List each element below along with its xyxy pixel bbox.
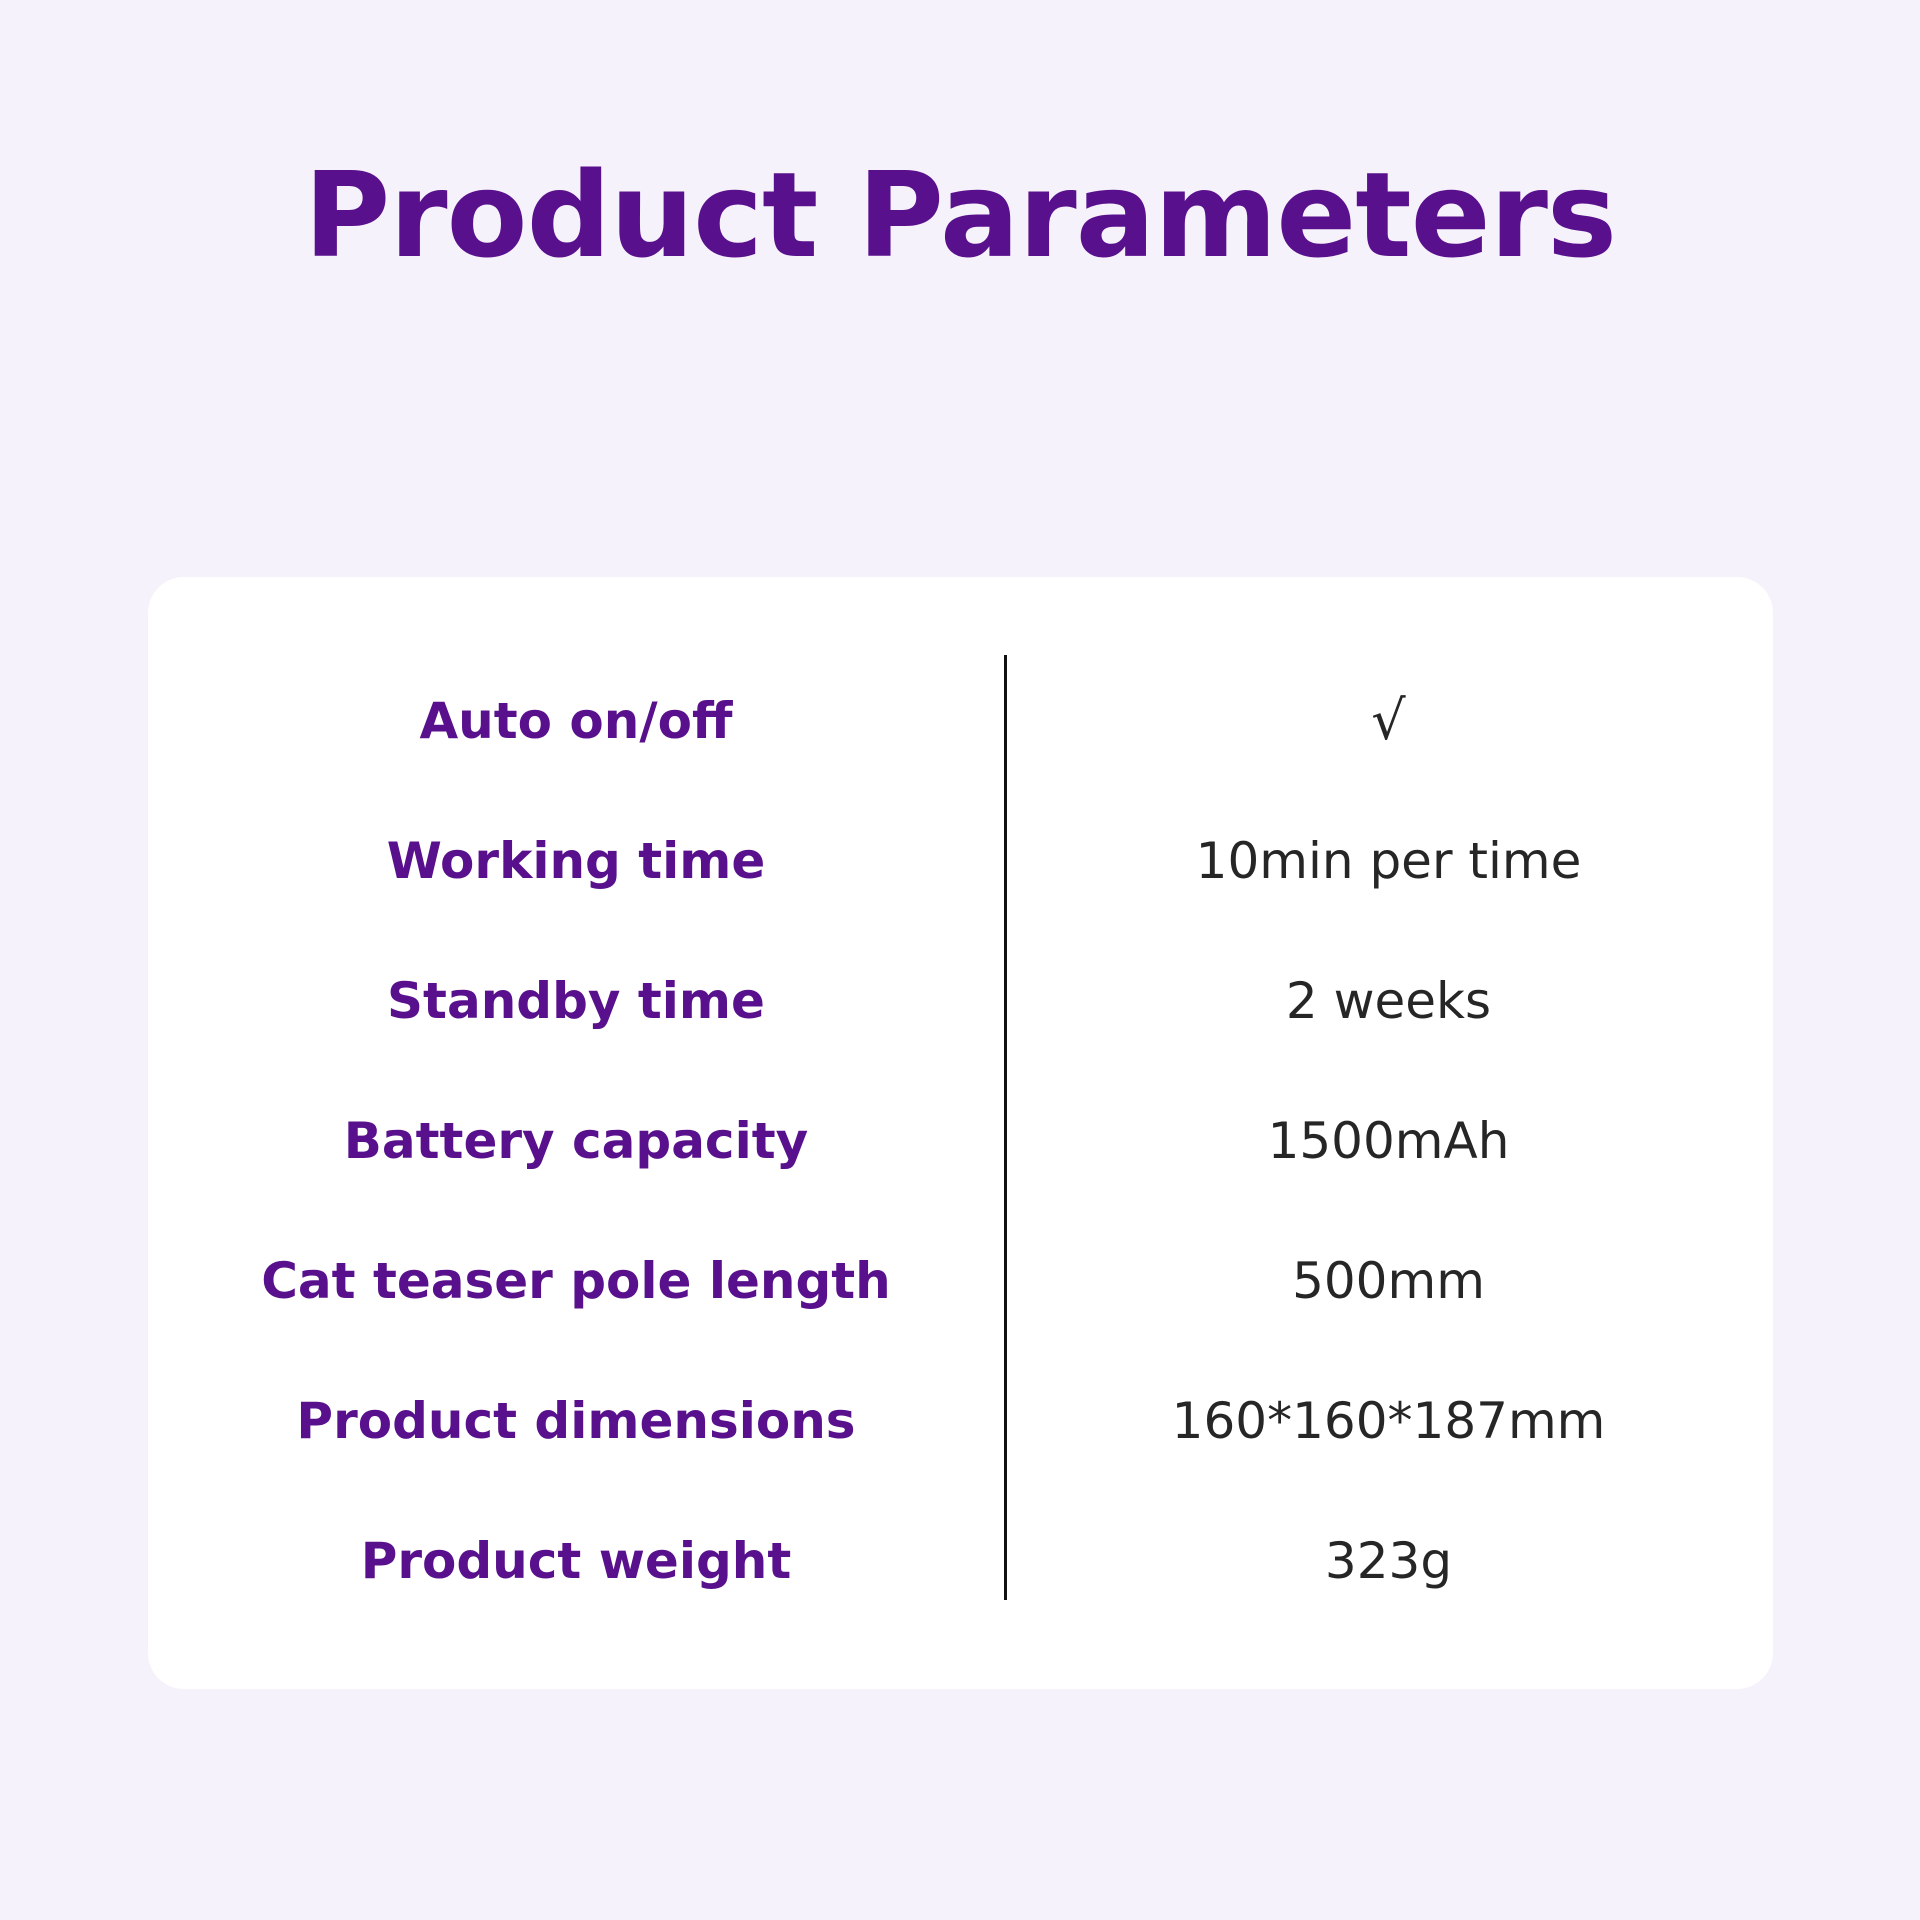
spec-value: 1500mAh (1004, 1114, 1773, 1169)
spec-label: Battery capacity (148, 1114, 1004, 1169)
spec-label: Cat teaser pole length (148, 1254, 1004, 1309)
spec-label: Standby time (148, 974, 1004, 1029)
table-row: Auto on/off √ (148, 651, 1773, 791)
table-row: Product weight 323g (148, 1491, 1773, 1631)
spec-value: 10min per time (1004, 834, 1773, 889)
spec-label: Auto on/off (148, 694, 1004, 749)
spec-table: Auto on/off √ Working time 10min per tim… (148, 577, 1773, 1689)
table-row: Cat teaser pole length 500mm (148, 1211, 1773, 1351)
spec-value: 500mm (1004, 1254, 1773, 1309)
table-row: Standby time 2 weeks (148, 931, 1773, 1071)
spec-label: Product dimensions (148, 1394, 1004, 1449)
spec-value-check-icon: √ (1004, 691, 1773, 750)
spec-label: Working time (148, 834, 1004, 889)
spec-value: 160*160*187mm (1004, 1394, 1773, 1449)
page-title: Product Parameters (0, 154, 1920, 278)
spec-value: 323g (1004, 1534, 1773, 1589)
spec-value: 2 weeks (1004, 974, 1773, 1029)
table-row: Product dimensions 160*160*187mm (148, 1351, 1773, 1491)
table-row: Battery capacity 1500mAh (148, 1071, 1773, 1211)
spec-label: Product weight (148, 1534, 1004, 1589)
table-row: Working time 10min per time (148, 791, 1773, 931)
spec-card: Auto on/off √ Working time 10min per tim… (148, 577, 1773, 1689)
